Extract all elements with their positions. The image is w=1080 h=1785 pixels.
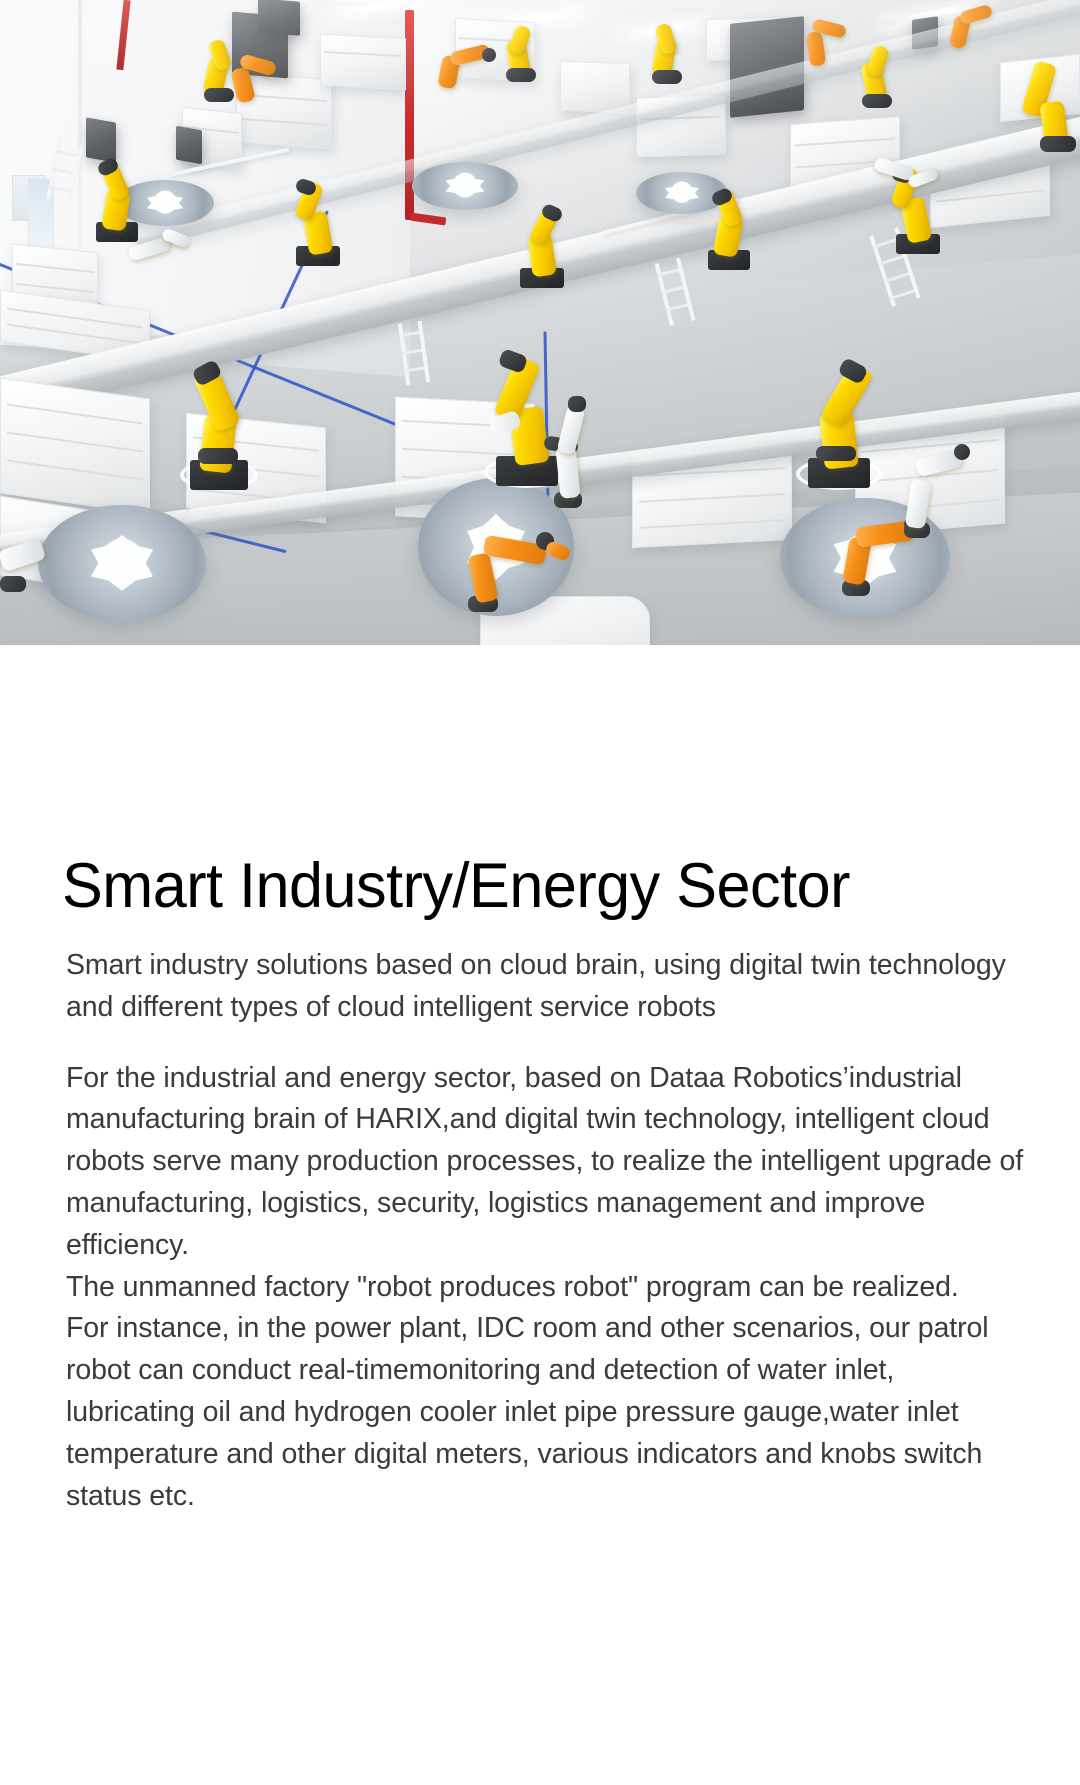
turntable-fixture (412, 162, 518, 210)
body-paragraph-3: For instance, in the power plant, IDC ro… (66, 1308, 1026, 1517)
parts-crate (560, 61, 630, 113)
factory-scene-render (0, 0, 1080, 645)
turntable-fixture (116, 180, 214, 226)
article-body: Smart industry solutions based on cloud … (66, 945, 1026, 1517)
parts-crate (320, 34, 406, 91)
body-paragraph-2: The unmanned factory "robot produces rob… (66, 1267, 1026, 1309)
machine-enclosure (176, 126, 202, 165)
body-paragraph-1: For the industrial and energy sector, ba… (66, 1058, 1026, 1267)
workbench (0, 377, 150, 514)
lead-paragraph: Smart industry solutions based on cloud … (66, 945, 1026, 1029)
page-title: Smart Industry/Energy Sector (62, 850, 850, 922)
turntable-fixture (38, 505, 206, 621)
machine-enclosure (258, 0, 300, 36)
machine-enclosure (86, 117, 116, 162)
page-root: Smart Industry/Energy Sector Smart indus… (0, 0, 1080, 1785)
hero-factory-image (0, 0, 1080, 645)
